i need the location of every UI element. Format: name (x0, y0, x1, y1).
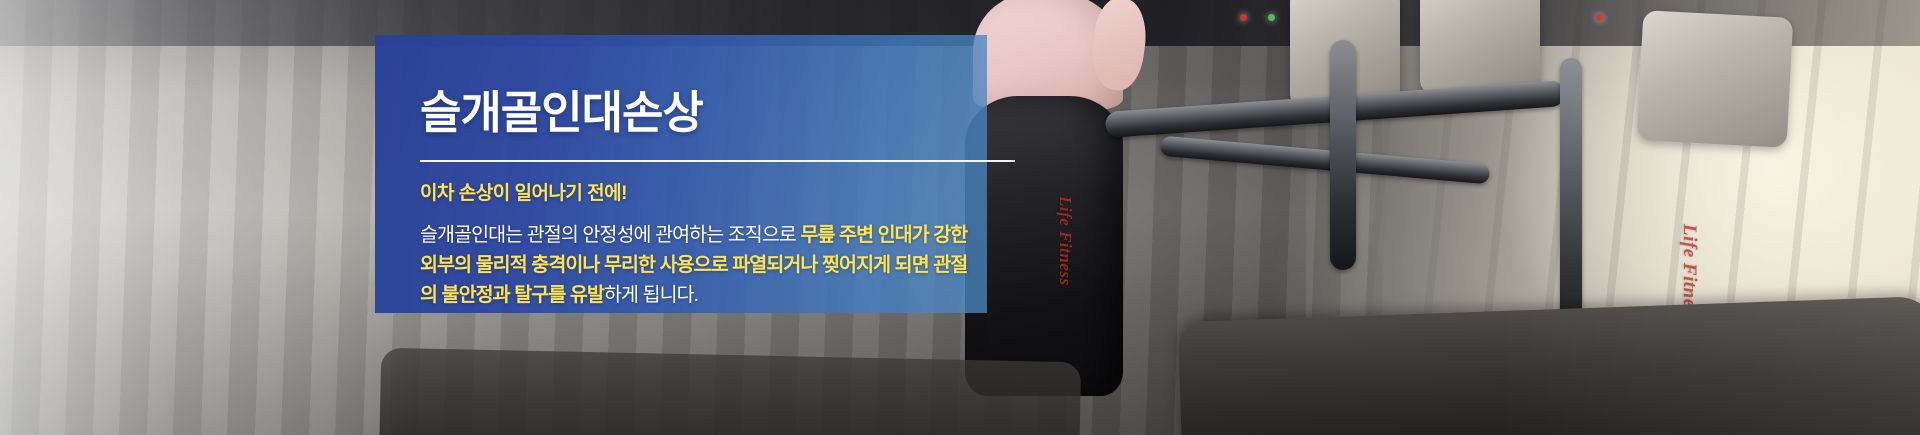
description-segment-0: 슬개골인대는 관절의 안정성에 관여하는 조직으로 (420, 224, 800, 246)
page-title: 슬개골인대손상 (420, 90, 703, 135)
content-panel: 슬개골인대손상 이차 손상이 일어나기 전에! 슬개골인대는 관절의 안정성에 … (375, 35, 987, 313)
promo-banner: Life Fitness Life Fitness 슬개골인대손상 이차 손상이… (0, 0, 1920, 435)
kicker-headline: 이차 손상이 일어나기 전에! (420, 183, 627, 206)
description-segment-2: 하게 됩니다. (604, 284, 698, 306)
title-divider (420, 160, 1015, 162)
description-paragraph: 슬개골인대는 관절의 안정성에 관여하는 조직으로 무릎 주변 인대가 강한 외… (420, 220, 980, 310)
